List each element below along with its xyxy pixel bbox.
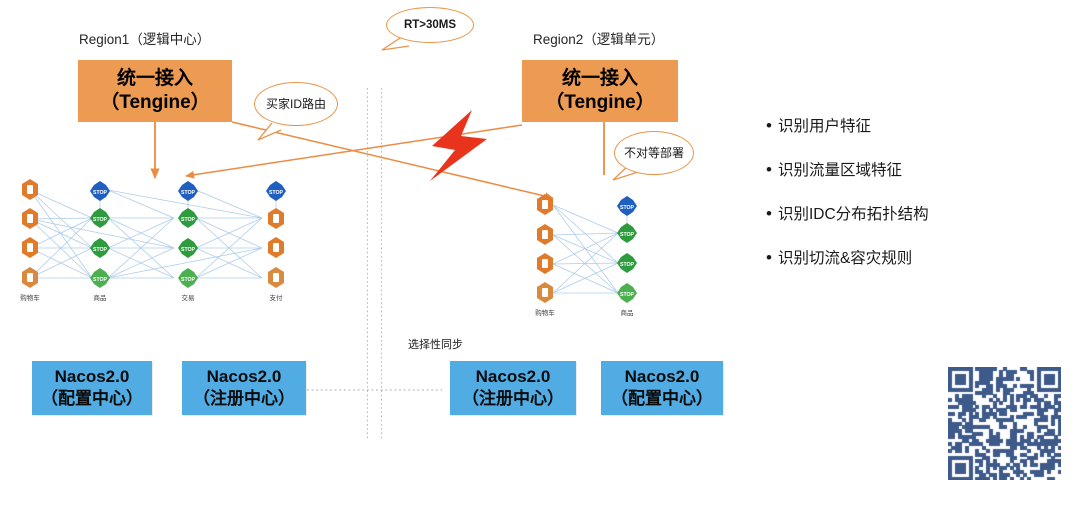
callout-rt-latency-text: RT>30MS [404,18,456,32]
svg-text:STOP: STOP [620,292,635,298]
icon-app-orange [268,208,284,229]
service-column-label-trade-left: 交易 [168,292,208,302]
icon-service-green: STOP [617,223,637,243]
callout-asymmetric-deploy: 不对等部署 [614,131,694,175]
icon-service-green: STOP [90,268,110,288]
list-item: • 识别切流&容灾规则 [766,250,1046,267]
bullet-marker: • [766,162,772,178]
route-arrow-right-to-region1 [186,125,522,176]
nacos-label-line2: （配置中心） [41,388,143,410]
gateway-label-line1: 统一接入 [562,67,638,91]
callout-asymmetric-deploy-text: 不对等部署 [624,146,684,161]
svg-text:STOP: STOP [93,247,108,253]
icon-app-orange [537,282,553,303]
service-column-label-cart-right: 购物车 [525,307,565,317]
icon-app-orange [537,253,553,274]
icon-app-orange [22,237,38,258]
icon-service-green: STOP [617,253,637,273]
nacos-box-left-registry[interactable]: Nacos2.0 （注册中心） [182,361,306,415]
icon-service-green: STOP [90,238,110,258]
service-icons-right: STOP STOP STOP STOP [537,194,637,303]
svg-text:STOP: STOP [181,190,196,196]
service-column-label-goods-left: 商品 [80,292,120,302]
nacos-label-line1: Nacos2.0 [207,366,282,388]
region-title-region1: Region1（逻辑中心） [79,28,210,48]
service-column-label-pay-left: 支付 [256,292,296,302]
nacos-box-left-config[interactable]: Nacos2.0 （配置中心） [32,361,152,415]
svg-text:STOP: STOP [620,262,635,268]
callout-tail-buyer-route [258,123,281,140]
icon-service-blue: STOP [266,181,286,201]
icon-service-green: STOP [178,238,198,258]
icon-service-green: STOP [178,268,198,288]
svg-text:STOP: STOP [620,205,635,211]
icon-service-blue: STOP [617,196,637,216]
region-title-region2: Region2（逻辑单元） [533,28,664,48]
icon-service-blue: STOP [90,181,110,201]
svg-text:STOP: STOP [93,217,108,223]
service-column-label-goods-right: 商品 [607,307,647,317]
icon-service-blue: STOP [178,181,198,201]
gateway-box-region2[interactable]: 统一接入 （Tengine） [522,60,678,122]
service-link-mesh-left [30,190,276,278]
diagram-canvas: STOP STOP STOP STOP STOP STOP STOP STOP … [0,0,1080,508]
list-item: • 识别流量区域特征 [766,162,1046,179]
gateway-label-line2: （Tengine） [100,91,209,115]
bullet-marker: • [766,118,772,134]
callout-buyer-id-route-text: 买家ID路由 [266,97,326,112]
nacos-label-line2: （配置中心） [611,388,713,410]
feature-bullet-list: • 识别用户特征 • 识别流量区域特征 • 识别IDC分布拓扑结构 • 识别切流… [766,118,1046,294]
icon-app-orange [268,267,284,288]
icon-app-orange [537,224,553,245]
svg-text:STOP: STOP [181,277,196,283]
nacos-label-line2: （注册中心） [193,388,295,410]
service-link-mesh-right [553,205,627,293]
bullet-marker: • [766,206,772,222]
icon-service-green: STOP [178,208,198,228]
nacos-label-line2: （注册中心） [462,388,564,410]
svg-text:STOP: STOP [181,247,196,253]
icon-service-green: STOP [617,283,637,303]
svg-text:STOP: STOP [269,190,284,196]
nacos-label-line1: Nacos2.0 [55,366,130,388]
bullet-text: 识别切流&容灾规则 [778,250,912,267]
svg-text:STOP: STOP [93,190,108,196]
service-column-label-cart-left: 购物车 [10,292,50,302]
bullet-text: 识别流量区域特征 [778,162,902,179]
icon-app-orange [22,267,38,288]
icon-app-orange [22,179,38,200]
bullet-text: 识别IDC分布拓扑结构 [778,206,929,223]
nacos-label-line1: Nacos2.0 [625,366,700,388]
svg-text:STOP: STOP [620,232,635,238]
gateway-box-region1[interactable]: 统一接入 （Tengine） [78,60,232,122]
gateway-label-line1: 统一接入 [117,67,193,91]
qr-code[interactable] [948,367,1061,480]
bullet-marker: • [766,250,772,266]
icon-app-orange [268,237,284,258]
svg-text:STOP: STOP [181,217,196,223]
selective-sync-label: 选择性同步 [408,336,463,352]
nacos-box-right-config[interactable]: Nacos2.0 （配置中心） [601,361,723,415]
callout-rt-latency: RT>30MS [386,7,474,43]
nacos-box-right-registry[interactable]: Nacos2.0 （注册中心） [450,361,576,415]
icon-service-green: STOP [90,208,110,228]
icon-app-orange [22,208,38,229]
list-item: • 识别IDC分布拓扑结构 [766,206,1046,223]
nacos-label-line1: Nacos2.0 [476,366,551,388]
list-item: • 识别用户特征 [766,118,1046,135]
callout-buyer-id-route: 买家ID路由 [254,82,338,126]
bullet-text: 识别用户特征 [778,118,871,135]
gateway-label-line2: （Tengine） [545,91,654,115]
svg-text:STOP: STOP [93,277,108,283]
